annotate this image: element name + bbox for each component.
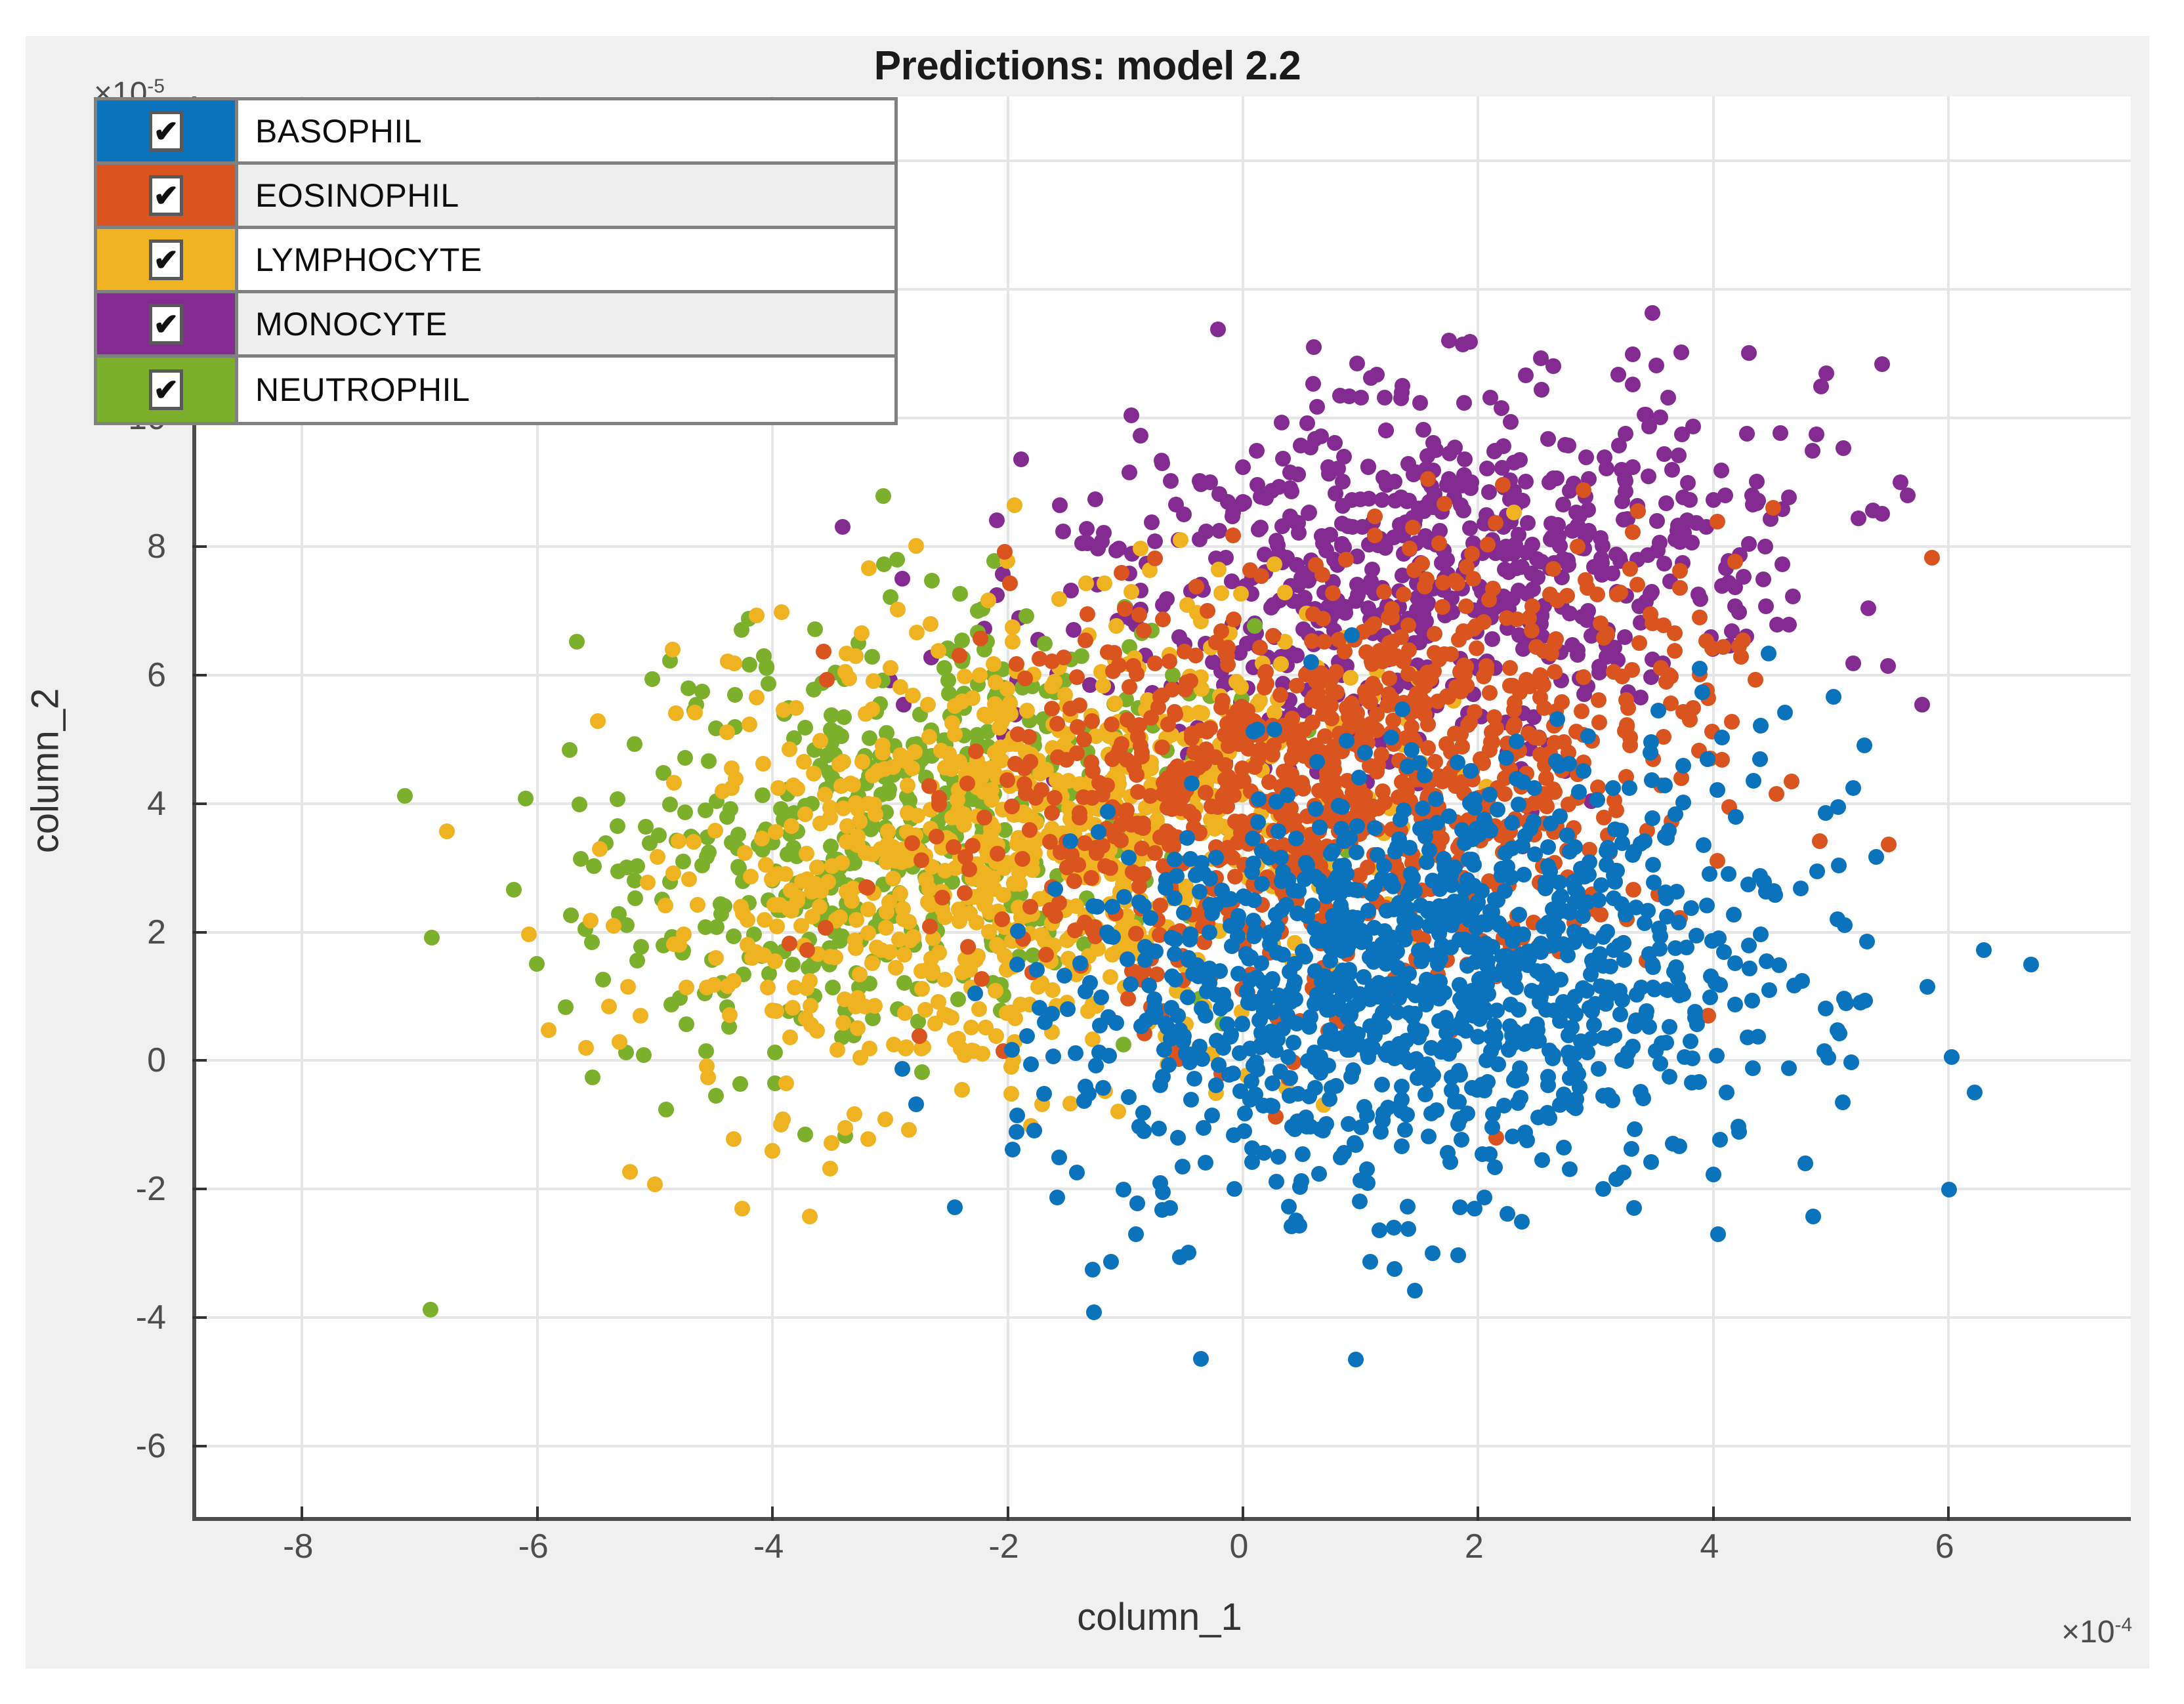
scatter-point — [1559, 588, 1575, 604]
scatter-point — [1015, 851, 1030, 867]
scatter-point — [1282, 465, 1298, 480]
scatter-point — [1508, 980, 1524, 995]
scatter-point — [1407, 883, 1423, 899]
scatter-point — [1375, 1005, 1391, 1020]
scatter-point — [1671, 1138, 1687, 1154]
scatter-point — [839, 818, 855, 834]
scatter-point — [1381, 638, 1396, 654]
legend-checkbox[interactable]: ✔ — [149, 369, 183, 410]
scatter-point — [1213, 1001, 1228, 1016]
scatter-point — [931, 643, 946, 659]
scatter-point — [802, 1209, 818, 1224]
scatter-point — [1452, 1067, 1468, 1083]
scatter-point — [954, 633, 970, 648]
scatter-point — [1396, 652, 1412, 667]
scatter-point — [1500, 1206, 1515, 1222]
scatter-point — [1491, 915, 1507, 931]
scatter-point — [1013, 451, 1029, 467]
scatter-point — [610, 818, 625, 834]
scatter-point — [1102, 928, 1118, 944]
scatter-point — [1078, 984, 1093, 999]
scatter-point — [1215, 795, 1230, 810]
scatter-point — [1680, 475, 1696, 491]
scatter-point — [927, 1016, 943, 1031]
scatter-point — [922, 919, 938, 934]
scatter-point — [1258, 490, 1274, 506]
scatter-point — [1409, 602, 1425, 618]
scatter-point — [1612, 1007, 1628, 1022]
scatter-point — [1322, 1022, 1338, 1038]
scatter-point — [1526, 780, 1542, 796]
scatter-point — [1438, 736, 1454, 752]
scatter-point — [1690, 587, 1706, 602]
scatter-point — [980, 592, 996, 608]
scatter-point — [1274, 415, 1290, 430]
scatter-point — [1100, 804, 1116, 820]
x-tick-label: -4 — [753, 1527, 784, 1566]
scatter-point — [1682, 712, 1698, 728]
scatter-point — [1105, 663, 1121, 679]
scatter-point — [1661, 823, 1677, 839]
scatter-point — [1378, 423, 1394, 438]
legend-table[interactable]: ✔BASOPHIL✔EOSINOPHIL✔LYMPHOCYTE✔MONOCYTE… — [94, 97, 898, 425]
scatter-point — [1123, 407, 1139, 423]
scatter-point — [1322, 1091, 1337, 1107]
scatter-point — [1198, 741, 1214, 757]
scatter-point — [1793, 881, 1809, 896]
scatter-point — [610, 791, 625, 807]
scatter-point — [1070, 719, 1085, 735]
scatter-point — [1246, 913, 1261, 928]
scatter-point — [1357, 930, 1373, 946]
scatter-point — [1250, 814, 1266, 830]
scatter-point — [947, 1199, 963, 1215]
scatter-point — [1463, 480, 1479, 496]
scatter-point — [1699, 898, 1715, 913]
scatter-point — [1261, 850, 1277, 865]
scatter-point — [1831, 858, 1847, 873]
legend-checkbox[interactable]: ✔ — [149, 175, 183, 216]
scatter-point — [1265, 597, 1281, 613]
legend-item-label: EOSINOPHIL — [238, 165, 894, 226]
scatter-point — [1009, 656, 1024, 672]
scatter-point — [1309, 399, 1325, 415]
scatter-point — [1312, 820, 1328, 835]
scatter-point — [1643, 1154, 1659, 1170]
scatter-point — [1727, 579, 1743, 595]
scatter-point — [1334, 538, 1350, 554]
scatter-point — [1178, 1046, 1194, 1062]
scatter-point — [1667, 643, 1683, 659]
scatter-point — [677, 804, 693, 820]
scatter-point — [1419, 819, 1435, 835]
scatter-point — [1463, 763, 1479, 779]
scatter-point — [1450, 1247, 1466, 1263]
scatter-point — [1404, 984, 1419, 999]
scatter-point — [819, 672, 835, 688]
scatter-point — [1468, 915, 1484, 930]
scatter-point — [1672, 563, 1688, 579]
scatter-point — [1656, 446, 1672, 462]
scatter-point — [1173, 532, 1188, 548]
scatter-point — [875, 488, 891, 504]
scatter-point — [1510, 1095, 1526, 1111]
scatter-point — [1051, 1150, 1067, 1165]
scatter-point — [1349, 356, 1365, 371]
scatter-point — [1482, 1146, 1498, 1162]
scatter-point — [835, 754, 851, 770]
scatter-point — [774, 604, 789, 620]
scatter-point — [1597, 449, 1612, 465]
scatter-point — [1836, 440, 1851, 456]
scatter-point — [1662, 1069, 1677, 1085]
scatter-point — [650, 849, 665, 865]
scatter-point — [1580, 1045, 1595, 1060]
scatter-point — [1006, 875, 1022, 891]
scatter-point — [1501, 564, 1517, 580]
scatter-point — [1131, 894, 1147, 910]
page-title: Predictions: model 2.2 — [26, 43, 2149, 89]
scatter-point — [1121, 850, 1137, 865]
scatter-point — [1485, 581, 1501, 596]
scatter-point — [1223, 1027, 1239, 1043]
scatter-point — [793, 918, 809, 934]
scatter-point — [1351, 1037, 1367, 1052]
scatter-point — [1194, 705, 1210, 721]
scatter-point — [768, 824, 784, 840]
scatter-point — [1710, 782, 1725, 798]
legend-checkbox[interactable]: ✔ — [149, 239, 183, 280]
scatter-point — [737, 845, 753, 861]
legend-color-swatch: ✔ — [97, 358, 238, 422]
scatter-point — [1696, 837, 1711, 853]
scatter-point — [726, 1131, 742, 1147]
scatter-point — [1551, 758, 1567, 774]
scatter-point — [1562, 483, 1578, 499]
scatter-point — [1188, 867, 1204, 883]
scatter-point — [1652, 535, 1668, 551]
scatter-point — [1809, 426, 1824, 442]
scatter-point — [1397, 1122, 1413, 1138]
scatter-point — [900, 778, 915, 793]
gridline-vertical — [1947, 96, 1950, 1517]
x-axis-tick — [1477, 1507, 1479, 1521]
scatter-point — [1147, 551, 1163, 566]
scatter-point — [1049, 772, 1064, 788]
legend-row[interactable]: ✔MONOCYTE — [97, 293, 894, 358]
scatter-point — [1299, 415, 1315, 431]
scatter-point — [1441, 471, 1457, 487]
scatter-point — [1599, 626, 1615, 642]
legend-row[interactable]: ✔NEUTROPHIL — [97, 358, 894, 422]
scatter-point — [1457, 451, 1473, 467]
scatter-point — [1326, 773, 1342, 789]
scatter-point — [1167, 707, 1183, 722]
scatter-point — [1235, 459, 1251, 475]
scatter-point — [1017, 671, 1033, 686]
scatter-point — [627, 890, 643, 906]
scatter-point — [1773, 425, 1788, 441]
scatter-point — [658, 898, 673, 913]
scatter-point — [1467, 791, 1482, 807]
scatter-point — [679, 980, 694, 995]
scatter-point — [1709, 1048, 1725, 1064]
scatter-point — [1380, 954, 1396, 970]
scatter-point — [529, 956, 545, 972]
scatter-point — [1093, 989, 1109, 1005]
scatter-point — [1944, 1049, 1960, 1065]
scatter-point — [1626, 1200, 1642, 1216]
scatter-point — [1009, 1108, 1025, 1123]
scatter-point — [1442, 446, 1458, 461]
scatter-point — [1343, 1007, 1358, 1023]
scatter-point — [1252, 640, 1268, 655]
y-tick-label: -2 — [22, 1169, 166, 1209]
scatter-point — [1658, 674, 1674, 690]
scatter-point — [1431, 991, 1447, 1007]
figure-canvas: Predictions: model 2.2 ×10-5 ×10-4 -8-6-… — [26, 36, 2149, 1669]
legend-row[interactable]: ✔LYMPHOCYTE — [97, 229, 894, 293]
scatter-point — [1914, 697, 1930, 713]
scatter-point — [1830, 799, 1846, 815]
scatter-point — [1564, 523, 1580, 539]
legend-item-label: NEUTROPHIL — [238, 358, 894, 422]
scatter-point — [740, 912, 755, 928]
scatter-point — [976, 784, 992, 800]
scatter-point — [1748, 672, 1763, 688]
scatter-point — [1568, 1100, 1584, 1116]
scatter-point — [782, 1029, 798, 1045]
scatter-point — [1108, 543, 1124, 558]
scatter-point — [743, 869, 759, 884]
scatter-point — [1465, 571, 1481, 587]
scatter-point — [796, 754, 812, 770]
scatter-point — [1652, 409, 1668, 425]
scatter-point — [847, 932, 863, 948]
scatter-point — [1290, 515, 1306, 531]
scatter-point — [1179, 597, 1195, 613]
scatter-point — [1526, 814, 1542, 829]
scatter-point — [1097, 575, 1112, 591]
scatter-point — [1287, 956, 1303, 972]
scatter-point — [1769, 617, 1785, 633]
scatter-point — [1010, 923, 1026, 939]
scatter-point — [1387, 844, 1403, 860]
scatter-point — [726, 928, 742, 944]
scatter-point — [1280, 787, 1295, 803]
scatter-point — [1376, 1019, 1392, 1035]
scatter-point — [397, 788, 413, 804]
scatter-point — [1479, 658, 1494, 674]
scatter-point — [1097, 858, 1113, 874]
scatter-point — [825, 980, 841, 995]
scatter-point — [1287, 1121, 1303, 1137]
scatter-point — [1076, 789, 1091, 805]
scatter-point — [1183, 851, 1198, 867]
scatter-point — [1360, 903, 1376, 919]
scatter-point — [1312, 873, 1328, 888]
scatter-point — [1633, 1084, 1648, 1100]
scatter-point — [1267, 556, 1282, 572]
scatter-point — [1466, 857, 1482, 873]
scatter-point — [595, 972, 611, 987]
scatter-point — [1507, 695, 1522, 711]
scatter-point — [1144, 514, 1160, 530]
scatter-point — [1609, 863, 1625, 879]
scatter-point — [1005, 634, 1020, 650]
scatter-point — [1402, 1054, 1417, 1070]
scatter-point — [1208, 1077, 1224, 1093]
scatter-point — [1451, 632, 1467, 648]
scatter-point — [1112, 741, 1127, 757]
scatter-point — [1572, 1079, 1587, 1095]
scatter-point — [972, 667, 988, 683]
scatter-point — [1225, 850, 1240, 865]
scatter-point — [1394, 1138, 1410, 1154]
scatter-point — [1104, 717, 1120, 732]
scatter-point — [1645, 857, 1661, 873]
scatter-point — [1128, 1226, 1144, 1242]
scatter-point — [1741, 536, 1757, 552]
scatter-point — [642, 835, 658, 851]
scatter-point — [1605, 780, 1621, 796]
scatter-point — [952, 586, 968, 602]
scatter-point — [1727, 554, 1743, 570]
scatter-point — [1805, 1209, 1821, 1224]
scatter-point — [1761, 982, 1777, 998]
scatter-point — [1516, 867, 1532, 883]
scatter-point — [812, 816, 828, 831]
scatter-point — [1777, 705, 1793, 720]
scatter-point — [1131, 607, 1147, 623]
scatter-point — [1305, 376, 1321, 392]
scatter-point — [1859, 934, 1875, 949]
scatter-point — [1252, 1012, 1268, 1028]
scatter-point — [1123, 976, 1139, 992]
scatter-point — [1421, 1129, 1437, 1144]
scatter-point — [947, 698, 963, 714]
scatter-point — [1611, 438, 1627, 453]
scatter-point — [1005, 1142, 1020, 1157]
scatter-point — [959, 776, 975, 791]
legend-checkbox[interactable]: ✔ — [149, 304, 183, 344]
scatter-point — [1611, 938, 1627, 953]
scatter-point — [1591, 892, 1606, 908]
scatter-point — [1624, 1141, 1639, 1157]
scatter-point — [860, 902, 876, 917]
scatter-point — [1683, 1033, 1698, 1049]
scatter-point — [1514, 559, 1530, 575]
scatter-point — [1656, 617, 1671, 633]
scatter-point — [1009, 957, 1025, 972]
scatter-point — [1454, 1132, 1469, 1148]
scatter-point — [1608, 1171, 1624, 1187]
legend-checkbox[interactable]: ✔ — [149, 111, 183, 152]
scatter-point — [1342, 830, 1358, 846]
scatter-point — [1322, 1002, 1337, 1018]
scatter-point — [1433, 951, 1448, 966]
scatter-point — [767, 1045, 783, 1060]
scatter-point — [1154, 453, 1169, 468]
scatter-point — [1618, 473, 1633, 489]
legend-row[interactable]: ✔EOSINOPHIL — [97, 165, 894, 229]
scatter-point — [782, 936, 797, 951]
scatter-point — [732, 1076, 748, 1092]
scatter-point — [1375, 1113, 1391, 1129]
scatter-point — [1440, 1017, 1456, 1033]
scatter-point — [698, 802, 713, 818]
legend-item-label: MONOCYTE — [238, 293, 894, 354]
scatter-point — [1116, 1037, 1131, 1052]
scatter-point — [1509, 771, 1524, 787]
scatter-point — [1022, 822, 1038, 838]
scatter-point — [1198, 1155, 1213, 1171]
scatter-point — [1881, 837, 1897, 852]
scatter-point — [1470, 1029, 1486, 1045]
scatter-point — [835, 1015, 851, 1031]
scatter-point — [1256, 1145, 1272, 1161]
scatter-point — [914, 1064, 930, 1080]
scatter-point — [1202, 975, 1217, 991]
legend-row[interactable]: ✔BASOPHIL — [97, 100, 894, 165]
scatter-point — [835, 519, 850, 535]
scatter-point — [950, 991, 966, 1007]
scatter-point — [1335, 963, 1351, 978]
scatter-point — [1540, 1069, 1556, 1085]
scatter-point — [590, 713, 606, 729]
legend-item-label: LYMPHOCYTE — [238, 229, 894, 290]
scatter-point — [1029, 962, 1045, 978]
scatter-point — [1742, 961, 1757, 976]
scatter-point — [860, 1131, 876, 1147]
scatter-point — [1251, 522, 1267, 537]
x-axis-tick — [1242, 1507, 1244, 1521]
scatter-point — [1683, 900, 1699, 916]
scatter-point — [1305, 715, 1320, 730]
scatter-point — [1161, 1057, 1177, 1073]
scatter-point — [1387, 474, 1402, 489]
scatter-point — [1363, 370, 1379, 386]
scatter-point — [877, 1112, 893, 1127]
scatter-point — [1639, 1003, 1654, 1019]
scatter-point — [1152, 829, 1168, 845]
scatter-point — [662, 797, 678, 812]
scatter-point — [677, 750, 693, 766]
scatter-point — [1724, 714, 1740, 730]
scatter-point — [1122, 679, 1137, 695]
scatter-point — [1047, 790, 1062, 806]
scatter-point — [896, 947, 912, 963]
scatter-point — [1056, 650, 1072, 665]
scatter-point — [1658, 495, 1674, 511]
scatter-point — [1162, 654, 1177, 669]
scatter-point — [1072, 955, 1088, 971]
scatter-point — [1868, 849, 1884, 865]
scatter-point — [1108, 1015, 1124, 1031]
scatter-point — [1561, 438, 1576, 453]
scatter-point — [1173, 800, 1188, 816]
scatter-point — [999, 772, 1015, 788]
scatter-point — [1059, 752, 1074, 768]
scatter-point — [1496, 960, 1511, 976]
scatter-point — [1595, 958, 1611, 974]
scatter-point — [1360, 1049, 1376, 1065]
scatter-point — [1391, 895, 1407, 911]
scatter-point — [1620, 1045, 1636, 1060]
scatter-point — [1397, 932, 1413, 947]
scatter-point — [1341, 932, 1357, 948]
scatter-point — [1270, 823, 1286, 839]
